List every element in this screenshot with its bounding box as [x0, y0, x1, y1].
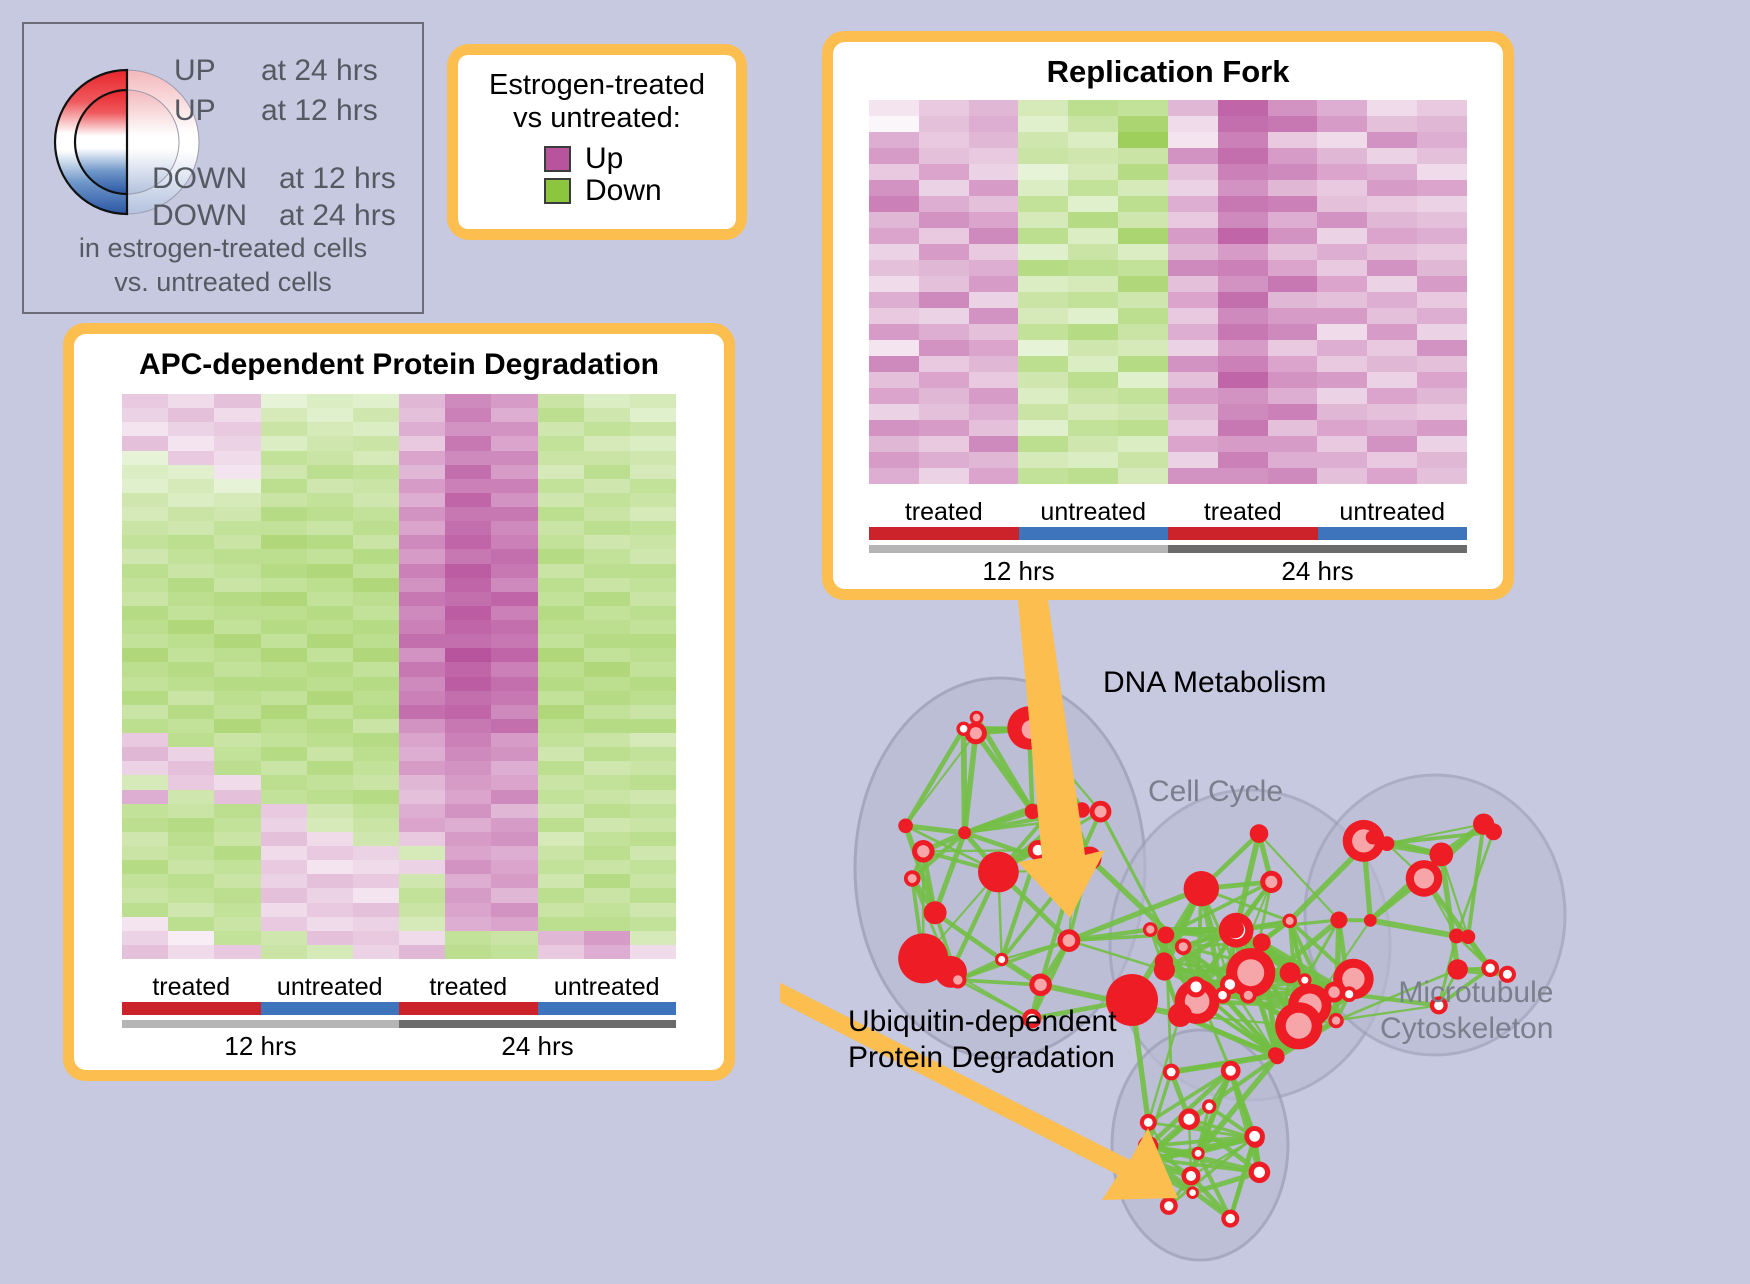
heatmap-cell: [969, 324, 1019, 340]
heatmap-cell: [869, 164, 919, 180]
network-node[interactable]: [1168, 1003, 1192, 1027]
heatmap-cell: [1268, 404, 1318, 420]
key-time-2: at 12 hrs: [279, 162, 396, 196]
heatmap-cell: [445, 578, 491, 592]
heatmap-cell: [538, 564, 584, 578]
network-node-core: [1146, 925, 1154, 933]
heatmap-cell: [1417, 372, 1467, 388]
heatmap-cell: [630, 394, 676, 408]
network-node-core: [1191, 981, 1202, 992]
heatmap-cell: [122, 662, 168, 676]
heatmap-cell: [969, 372, 1019, 388]
heatmap-cell: [214, 945, 260, 959]
heatmap-cell: [919, 148, 969, 164]
heatmap-cell: [584, 578, 630, 592]
heatmap-cell: [491, 606, 537, 620]
heatmap-cell: [1018, 436, 1068, 452]
heatmap-cell: [969, 420, 1019, 436]
heatmap-cell: [307, 451, 353, 465]
group-color-bar: [869, 527, 1467, 540]
heatmap-cell: [307, 535, 353, 549]
heatmap-cell: [1417, 356, 1467, 372]
heatmap-cell: [919, 164, 969, 180]
heatmap-cell: [1118, 340, 1168, 356]
heatmap-cell: [1268, 148, 1318, 164]
heatmap-cell: [1417, 468, 1467, 484]
group-label-0: treated: [122, 973, 261, 1002]
replication-fork-panel: Replication Fork treated untreated treat…: [822, 31, 1514, 600]
heatmap-cell: [122, 592, 168, 606]
network-node-core: [1414, 868, 1434, 888]
heatmap-cell: [445, 465, 491, 479]
group-color-bar: [122, 1002, 676, 1015]
heatmap-cell: [584, 493, 630, 507]
group-bar-untreated-24: [1318, 527, 1468, 540]
heatmap-cell: [399, 832, 445, 846]
heatmap-cell: [1417, 260, 1467, 276]
heatmap-cell: [491, 691, 537, 705]
heatmap-cell: [1268, 372, 1318, 388]
heatmap-cell: [969, 292, 1019, 308]
replication-fork-title: Replication Fork: [833, 42, 1503, 90]
heatmap-cell: [1068, 452, 1118, 468]
heatmap-cell: [538, 775, 584, 789]
heatmap-cell: [168, 479, 214, 493]
heatmap-cell: [307, 818, 353, 832]
heatmap-cell: [353, 846, 399, 860]
heatmap-cell: [307, 465, 353, 479]
heatmap-cell: [1218, 244, 1268, 260]
heatmap-cell: [399, 535, 445, 549]
heatmap-cell: [307, 691, 353, 705]
heatmap-cell: [1068, 340, 1118, 356]
heatmap-cell: [538, 705, 584, 719]
heatmap-cell: [122, 888, 168, 902]
heatmap-cell: [307, 790, 353, 804]
key-time-3: at 24 hrs: [279, 199, 396, 233]
heatmap-cell: [168, 832, 214, 846]
heatmap-cell: [214, 719, 260, 733]
heatmap-cell: [445, 874, 491, 888]
heatmap-cell: [445, 422, 491, 436]
heatmap-cell: [168, 790, 214, 804]
heatmap-cell: [1218, 468, 1268, 484]
heatmap-cell: [1068, 196, 1118, 212]
heatmap-cell: [353, 578, 399, 592]
time-labels: 12 hrs 24 hrs: [122, 1031, 676, 1062]
heatmap-cell: [1068, 148, 1118, 164]
heatmap-cell: [1317, 388, 1367, 404]
heatmap-cell: [1417, 244, 1467, 260]
heatmap-cell: [630, 917, 676, 931]
heatmap-cell: [168, 521, 214, 535]
heatmap-cell: [261, 606, 307, 620]
heatmap-cell: [261, 662, 307, 676]
network-node-core: [1095, 806, 1107, 818]
heatmap-cell: [969, 404, 1019, 420]
network-node[interactable]: [1473, 814, 1494, 835]
sunburst-legend-note: in estrogen-treated cells vs. untreated …: [24, 232, 422, 300]
heatmap-cell: [122, 832, 168, 846]
network-node[interactable]: [1366, 830, 1380, 844]
key-state-0: UP: [174, 54, 216, 88]
heatmap-cell: [353, 535, 399, 549]
heatmap-cell: [1317, 436, 1367, 452]
heatmap-cell: [584, 465, 630, 479]
heatmap-cell: [630, 677, 676, 691]
network-node[interactable]: [1280, 962, 1301, 983]
time-bar-12: [869, 545, 1168, 553]
heatmap-cell: [1218, 340, 1268, 356]
heatmap-cell: [353, 549, 399, 563]
cluster-label-cell-cycle: Cell Cycle: [1148, 774, 1283, 810]
key-state-3: DOWN: [152, 199, 247, 233]
heatmap-cell: [919, 324, 969, 340]
heatmap-cell: [919, 180, 969, 196]
heatmap-cell: [491, 451, 537, 465]
heatmap-cell: [491, 945, 537, 959]
heatmap-cell: [261, 818, 307, 832]
heatmap-cell: [214, 408, 260, 422]
heatmap-cell: [214, 451, 260, 465]
heatmap-cell: [1118, 244, 1168, 260]
network-node[interactable]: [1155, 952, 1173, 970]
network-svg: [780, 600, 1750, 1279]
heatmap-cell: [1168, 308, 1218, 324]
heatmap-cell: [399, 705, 445, 719]
heatmap-cell: [307, 578, 353, 592]
heatmap-cell: [445, 705, 491, 719]
heatmap-cell: [1268, 244, 1318, 260]
heatmap-grid: [122, 394, 676, 959]
heatmap-cell: [538, 691, 584, 705]
heatmap-cell: [445, 733, 491, 747]
heatmap-cell: [399, 549, 445, 563]
network-node-core: [1345, 990, 1353, 998]
heatmap-cell: [214, 903, 260, 917]
heatmap-cell: [869, 388, 919, 404]
heatmap-cell: [630, 620, 676, 634]
heatmap-cell: [584, 422, 630, 436]
heatmap-cell: [307, 507, 353, 521]
heatmap-cell: [353, 662, 399, 676]
heatmap-cell: [445, 917, 491, 931]
heatmap-cell: [630, 507, 676, 521]
legend-title-line2: vs untreated:: [468, 102, 726, 135]
group-labels: treated untreated treated untreated: [122, 973, 676, 1002]
network-node[interactable]: [1184, 871, 1219, 906]
heatmap-cell: [1268, 276, 1318, 292]
heatmap-cell: [1268, 324, 1318, 340]
heatmap-cell: [353, 705, 399, 719]
heatmap-cell: [869, 372, 919, 388]
heatmap-cell: [307, 945, 353, 959]
heatmap-cell: [399, 691, 445, 705]
heatmap-cell: [353, 493, 399, 507]
heatmap-cell: [307, 592, 353, 606]
network-node[interactable]: [1157, 927, 1174, 944]
heatmap-cell: [353, 677, 399, 691]
heatmap-cell: [969, 244, 1019, 260]
heatmap-cell: [1168, 100, 1218, 116]
heatmap-cell: [1168, 388, 1218, 404]
heatmap-cell: [1168, 116, 1218, 132]
network-node[interactable]: [1270, 1048, 1284, 1062]
heatmap-cell: [969, 212, 1019, 228]
heatmap-cell: [353, 648, 399, 662]
group-bar-treated-12: [122, 1002, 261, 1015]
heatmap-cell: [168, 888, 214, 902]
heatmap-cell: [168, 733, 214, 747]
network-node-core: [1167, 1068, 1176, 1077]
heatmap-cell: [122, 790, 168, 804]
heatmap-cell: [630, 846, 676, 860]
heatmap-cell: [538, 620, 584, 634]
heatmap-cell: [630, 535, 676, 549]
heatmap-cell: [214, 691, 260, 705]
heatmap-cell: [261, 535, 307, 549]
heatmap-cell: [1068, 228, 1118, 244]
heatmap-cell: [869, 228, 919, 244]
legend-label-down: Down: [585, 176, 662, 206]
heatmap-cell: [919, 356, 969, 372]
legend-item-down: Down: [544, 176, 726, 206]
heatmap-cell: [168, 761, 214, 775]
heatmap-cell: [630, 874, 676, 888]
heatmap-cell: [869, 148, 919, 164]
heatmap-cell: [307, 832, 353, 846]
heatmap-cell: [1417, 164, 1467, 180]
heatmap-cell: [538, 592, 584, 606]
heatmap-cell: [1168, 132, 1218, 148]
heatmap-cell: [1317, 468, 1367, 484]
heatmap-cell: [399, 592, 445, 606]
network-node-core: [1237, 959, 1264, 986]
heatmap-cell: [1168, 212, 1218, 228]
heatmap-cell: [307, 705, 353, 719]
heatmap-cell: [122, 578, 168, 592]
heatmap-cell: [399, 436, 445, 450]
heatmap-cell: [919, 132, 969, 148]
heatmap-cell: [969, 340, 1019, 356]
heatmap-cell: [1168, 148, 1218, 164]
heatmap-cell: [399, 903, 445, 917]
heatmap-cell: [399, 719, 445, 733]
heatmap-cell: [122, 521, 168, 535]
heatmap-cell: [969, 276, 1019, 292]
heatmap-cell: [1118, 356, 1168, 372]
heatmap-cell: [1118, 372, 1168, 388]
heatmap-cell: [1367, 276, 1417, 292]
network-node[interactable]: [1226, 920, 1244, 938]
heatmap-cell: [1118, 132, 1168, 148]
heatmap-cell: [1417, 308, 1467, 324]
heatmap-cell: [630, 945, 676, 959]
heatmap-cell: [122, 733, 168, 747]
heatmap-cell: [168, 564, 214, 578]
heatmap-cell: [630, 578, 676, 592]
heatmap-cell: [1118, 388, 1168, 404]
heatmap-cell: [1068, 244, 1118, 260]
heatmap-cell: [1018, 452, 1068, 468]
heatmap-cell: [584, 733, 630, 747]
network-node-core: [1218, 991, 1227, 1000]
heatmap-cell: [261, 832, 307, 846]
heatmap-cell: [869, 420, 919, 436]
heatmap-cell: [353, 592, 399, 606]
heatmap-cell: [1168, 372, 1218, 388]
heatmap-cell: [261, 888, 307, 902]
heatmap-cell: [168, 451, 214, 465]
heatmap-cell: [399, 521, 445, 535]
heatmap-cell: [630, 804, 676, 818]
heatmap-cell: [122, 493, 168, 507]
network-node[interactable]: [958, 826, 971, 839]
heatmap-cell: [168, 917, 214, 931]
network-node[interactable]: [898, 819, 913, 834]
heatmap-cell: [869, 244, 919, 260]
heatmap-cell: [1218, 452, 1268, 468]
heatmap-cell: [630, 790, 676, 804]
heatmap-cell: [307, 436, 353, 450]
heatmap-cell: [445, 931, 491, 945]
heatmap-cell: [445, 903, 491, 917]
heatmap-cell: [538, 733, 584, 747]
network-node-core: [1144, 1118, 1153, 1127]
heatmap-cell: [122, 747, 168, 761]
heatmap-cell: [307, 634, 353, 648]
heatmap-cell: [919, 468, 969, 484]
heatmap-cell: [969, 164, 1019, 180]
heatmap-cell: [969, 228, 1019, 244]
heatmap-cell: [630, 775, 676, 789]
heatmap-cell: [1367, 372, 1417, 388]
heatmap-cell: [353, 775, 399, 789]
network-node[interactable]: [1449, 929, 1464, 944]
heatmap-cell: [445, 804, 491, 818]
heatmap-cell: [538, 888, 584, 902]
heatmap-cell: [1317, 244, 1367, 260]
heatmap-cell: [584, 606, 630, 620]
network-node[interactable]: [924, 901, 947, 924]
heatmap-cell: [168, 465, 214, 479]
heatmap-cell: [445, 564, 491, 578]
legend-label-up: Up: [585, 144, 623, 174]
network-node[interactable]: [1253, 933, 1271, 951]
heatmap-cell: [491, 620, 537, 634]
heatmap-cell: [399, 465, 445, 479]
network-node[interactable]: [1330, 912, 1347, 929]
heatmap-cell: [399, 422, 445, 436]
heatmap-cell: [630, 592, 676, 606]
heatmap-cell: [630, 465, 676, 479]
heatmap-cell: [491, 747, 537, 761]
heatmap-cell: [1317, 132, 1367, 148]
network-node[interactable]: [978, 852, 1019, 893]
network-node[interactable]: [1429, 843, 1453, 867]
heatmap-cell: [1118, 260, 1168, 276]
heatmap-cell: [538, 436, 584, 450]
heatmap-cell: [399, 945, 445, 959]
heatmap-cell: [630, 818, 676, 832]
network-node-core: [1206, 1103, 1213, 1110]
heatmap-cell: [261, 507, 307, 521]
heatmap-cell: [122, 394, 168, 408]
heatmap-cell: [1218, 260, 1268, 276]
heatmap-cell: [630, 662, 676, 676]
network-node-core: [1286, 917, 1294, 925]
heatmap-cell: [307, 719, 353, 733]
heatmap-cell: [491, 931, 537, 945]
heatmap-cell: [445, 775, 491, 789]
heatmap-cell: [445, 451, 491, 465]
group-label-2: treated: [399, 973, 538, 1002]
heatmap-cell: [1317, 404, 1367, 420]
heatmap-cell: [919, 196, 969, 212]
heatmap-cell: [1317, 276, 1367, 292]
heatmap-cell: [1168, 180, 1218, 196]
heatmap-cell: [214, 747, 260, 761]
heatmap-cell: [1417, 228, 1467, 244]
heatmap-cell: [1068, 292, 1118, 308]
heatmap-cell: [491, 662, 537, 676]
heatmap-cell: [919, 420, 969, 436]
heatmap-cell: [214, 790, 260, 804]
heatmap-cell: [1367, 116, 1417, 132]
heatmap-cell: [630, 521, 676, 535]
heatmap-cell: [1317, 260, 1367, 276]
network-node[interactable]: [1250, 824, 1269, 843]
heatmap-cell: [538, 493, 584, 507]
heatmap-cell: [445, 945, 491, 959]
heatmap-cell: [353, 945, 399, 959]
heatmap-cell: [1317, 452, 1367, 468]
heatmap-cell: [122, 535, 168, 549]
heatmap-cell: [630, 451, 676, 465]
network-node[interactable]: [1364, 914, 1377, 927]
heatmap-cell: [1317, 292, 1367, 308]
heatmap-cell: [261, 634, 307, 648]
heatmap-cell: [445, 479, 491, 493]
heatmap-cell: [630, 761, 676, 775]
heatmap-cell: [307, 648, 353, 662]
heatmap-cell: [307, 733, 353, 747]
heatmap-cell: [1317, 148, 1367, 164]
heatmap-cell: [969, 196, 1019, 212]
heatmap-cell: [1168, 164, 1218, 180]
heatmap-cell: [1018, 468, 1068, 484]
heatmap-cell: [1218, 212, 1268, 228]
heatmap-cell: [1417, 340, 1467, 356]
heatmap-cell: [353, 451, 399, 465]
heatmap-cell: [214, 775, 260, 789]
heatmap-cell: [491, 549, 537, 563]
legend-note-line1: in estrogen-treated cells: [24, 232, 422, 266]
heatmap-cell: [214, 931, 260, 945]
heatmap-cell: [630, 888, 676, 902]
heatmap-cell: [538, 917, 584, 931]
heatmap-cell: [1118, 180, 1168, 196]
heatmap-cell: [399, 451, 445, 465]
heatmap-cell: [584, 436, 630, 450]
heatmap-cell: [1268, 340, 1318, 356]
heatmap-cell: [491, 846, 537, 860]
network-node[interactable]: [1380, 836, 1395, 851]
heatmap-cell: [307, 677, 353, 691]
heatmap-cell: [399, 578, 445, 592]
heatmap-cell: [919, 388, 969, 404]
heatmap-cell: [1118, 292, 1168, 308]
